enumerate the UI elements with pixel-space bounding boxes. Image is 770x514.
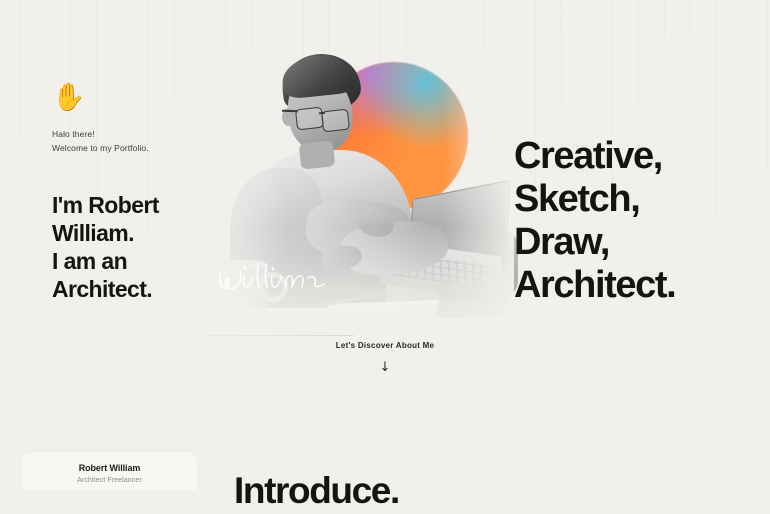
discover-cta[interactable]: Let's Discover About Me ↓	[0, 341, 770, 374]
profile-card[interactable]: Robert William Architect Freelancer	[22, 452, 197, 490]
hero-headline: Creative, Sketch, Draw, Architect.	[514, 135, 675, 307]
hero-name-line-1: I'm Robert	[52, 191, 227, 219]
hero-section: ✋ Halo there! Welcome to my Portfolio. I…	[0, 0, 770, 420]
headline-line-2: Sketch,	[514, 178, 675, 221]
profile-role: Architect Freelancer	[22, 477, 197, 484]
profile-name: Robert William	[22, 463, 197, 473]
headline-line-3: Draw,	[514, 221, 675, 264]
arrow-down-icon[interactable]: ↓	[0, 361, 770, 374]
greeting-line-1: Halo there!	[52, 127, 227, 141]
greeting-line-2: Welcome to my Portfolio.	[52, 141, 227, 155]
introduce-section-title: Introduce.	[234, 468, 399, 514]
hero-name-line-3: I am an	[52, 247, 227, 275]
headline-line-1: Creative,	[514, 135, 675, 178]
signature-mark	[214, 254, 334, 302]
waving-hand-icon: ✋	[52, 84, 227, 111]
hero-name-heading: I'm Robert William. I am an Architect.	[52, 191, 227, 303]
hero-photo	[196, 50, 514, 335]
hero-name-line-4: Architect.	[52, 275, 227, 303]
intro-block: ✋ Halo there! Welcome to my Portfolio. I…	[52, 84, 227, 318]
headline-line-4: Architect.	[514, 264, 675, 307]
hero-name-line-2: William.	[52, 219, 227, 247]
discover-label[interactable]: Let's Discover About Me	[0, 341, 770, 350]
